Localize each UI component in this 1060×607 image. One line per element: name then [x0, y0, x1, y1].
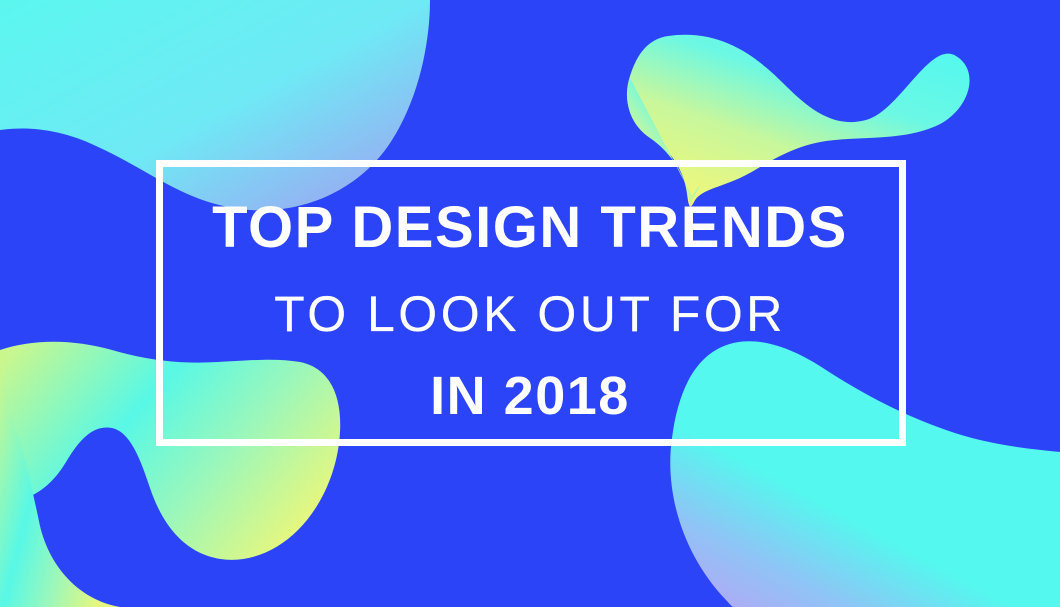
decorative-background	[0, 0, 1060, 607]
poster-canvas: TOP DESIGN TRENDS TO LOOK OUT FOR IN 201…	[0, 0, 1060, 607]
